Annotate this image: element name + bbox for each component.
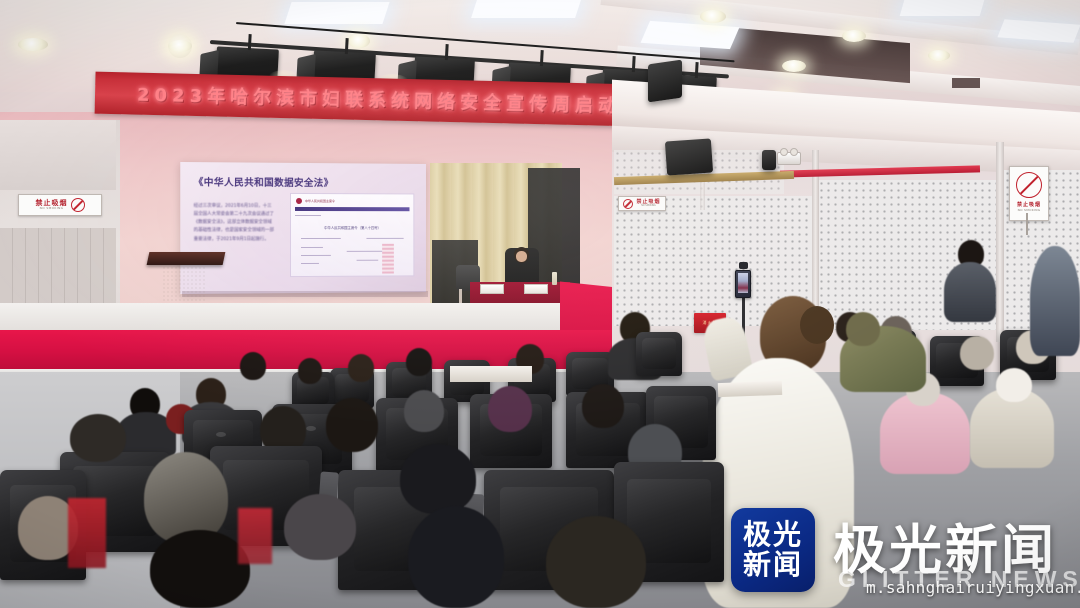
audience-shoulders: [944, 262, 996, 322]
wall-loudspeaker: [762, 150, 776, 170]
document-rule: [295, 207, 409, 211]
stage-light-stem: [248, 34, 252, 50]
stage-light-stem: [540, 50, 544, 66]
no-smoking-sign-right-text: 禁止吸烟: [1017, 201, 1041, 208]
source-url-watermark: m.sahnghairuiyingxuan.co: [866, 578, 1080, 597]
panel-light: [284, 2, 389, 24]
audience-head: [240, 352, 266, 380]
slide-body-text: 经过三次审议，2021年6月10日，十三届全国人大常委会第二十九次会议通过了《数…: [194, 203, 275, 244]
no-smoking-sign-right: 禁止吸烟 NO SMOKING: [1009, 166, 1049, 221]
wall-loudspeaker: [648, 60, 682, 103]
emergency-exit-light: [777, 152, 801, 165]
audience-head: [144, 452, 228, 544]
name-placard-left: [480, 284, 504, 294]
event-banner-text: 2023年哈尔滨市妇联系统网络安全宣传周启动暨: [137, 81, 636, 119]
document-line: [366, 238, 403, 239]
document-seal: [382, 244, 394, 274]
news-logo-line1: 极光: [743, 520, 803, 550]
audience-head: [70, 414, 126, 462]
ceiling-vent-small: [952, 78, 980, 88]
no-smoking-sign-back-sub: NO SMOKING: [641, 205, 655, 207]
ceiling-downlight: [842, 30, 866, 42]
seat-badge: [306, 426, 316, 431]
name-placard-right: [524, 284, 548, 294]
no-smoking-sign-right-sub: NO SMOKING: [1018, 208, 1041, 212]
podium-top: [147, 252, 226, 265]
slide-document-image: 中华人民共和国主席令 中华人民共和国主席令（第八十四号）: [290, 193, 414, 277]
audience-head: [150, 530, 250, 608]
audience-head: [406, 348, 432, 376]
document-header: 中华人民共和国主席令: [305, 199, 335, 203]
document-line: [301, 255, 331, 256]
news-logo-line2: 新闻: [743, 550, 803, 580]
no-smoking-sign-left: 禁止吸烟 NO SMOKING: [18, 194, 102, 216]
ceiling-downlight: [782, 60, 806, 72]
audience-head: [488, 386, 532, 432]
wall-divider-post: [996, 142, 1004, 342]
panel-light: [471, 0, 581, 18]
audience-red-garment: [238, 508, 272, 564]
videographer-hair-bun: [800, 306, 834, 344]
document-line: [357, 260, 379, 261]
audience-head: [408, 506, 504, 608]
stage-light-stem: [695, 62, 699, 78]
seat: [636, 332, 682, 376]
wall-loudspeaker: [665, 138, 713, 175]
national-emblem-icon: [296, 198, 302, 204]
audience-head: [326, 398, 378, 452]
ceiling-downlight: [168, 34, 192, 58]
document-subtitle: 中华人民共和国主席令（第八十四号）: [291, 225, 413, 230]
audience-head: [582, 384, 624, 428]
slide-title: 《中华人民共和国数据安全法》: [194, 174, 334, 189]
audience-head: [996, 368, 1032, 402]
side-table: [450, 366, 532, 382]
ceiling-downlight: [700, 10, 726, 23]
screen-mount-shadow: [182, 291, 428, 297]
audience-head: [348, 354, 374, 382]
no-smoking-icon: [623, 199, 633, 209]
audience-red-garment: [68, 498, 106, 568]
ceiling-downlight: [348, 34, 370, 48]
smartphone-recording: [735, 270, 751, 298]
document-line: [301, 247, 323, 248]
panel-light: [900, 0, 985, 16]
no-smoking-sign-left-sub: NO SMOKING: [40, 207, 64, 210]
audience-shoulders: [1030, 246, 1080, 356]
no-smoking-sign-back: 禁止吸烟 NO SMOKING: [618, 196, 666, 211]
audience-head: [284, 494, 356, 560]
news-logo-badge: 极光 新闻: [731, 508, 815, 592]
document-line: [347, 251, 382, 252]
audience-head: [404, 390, 444, 432]
audience-head: [298, 358, 322, 384]
audience-head: [400, 444, 476, 514]
stage-light-stem: [345, 38, 349, 54]
projection-screen: 《中华人民共和国数据安全法》 经过三次审议，2021年6月10日，十三届全国人大…: [180, 162, 426, 294]
no-smoking-icon: [71, 198, 85, 212]
seat-badge: [216, 432, 226, 437]
sign-post: [1026, 213, 1028, 235]
tripod-head: [739, 262, 748, 269]
audience-head: [960, 336, 994, 370]
document-line: [295, 215, 321, 216]
side-table: [718, 381, 782, 397]
water-bottle: [552, 272, 557, 285]
ceiling-downlight: [18, 38, 48, 51]
no-smoking-icon: [1016, 172, 1042, 198]
audience-head: [846, 312, 880, 346]
document-line: [301, 263, 319, 264]
left-wall-upper: [0, 120, 116, 190]
ceiling-downlight: [928, 50, 950, 61]
speaker-face: [516, 251, 527, 262]
smartphone-screen: [738, 273, 748, 293]
document-line: [301, 238, 341, 239]
stage-light-stem: [632, 56, 636, 72]
stage-light-stem: [445, 44, 449, 60]
conference-hall-photo: 2023年哈尔滨市妇联系统网络安全宣传周启动暨 《中华人民共和国数据安全法》 经…: [0, 0, 1080, 608]
audience-head: [546, 516, 646, 608]
